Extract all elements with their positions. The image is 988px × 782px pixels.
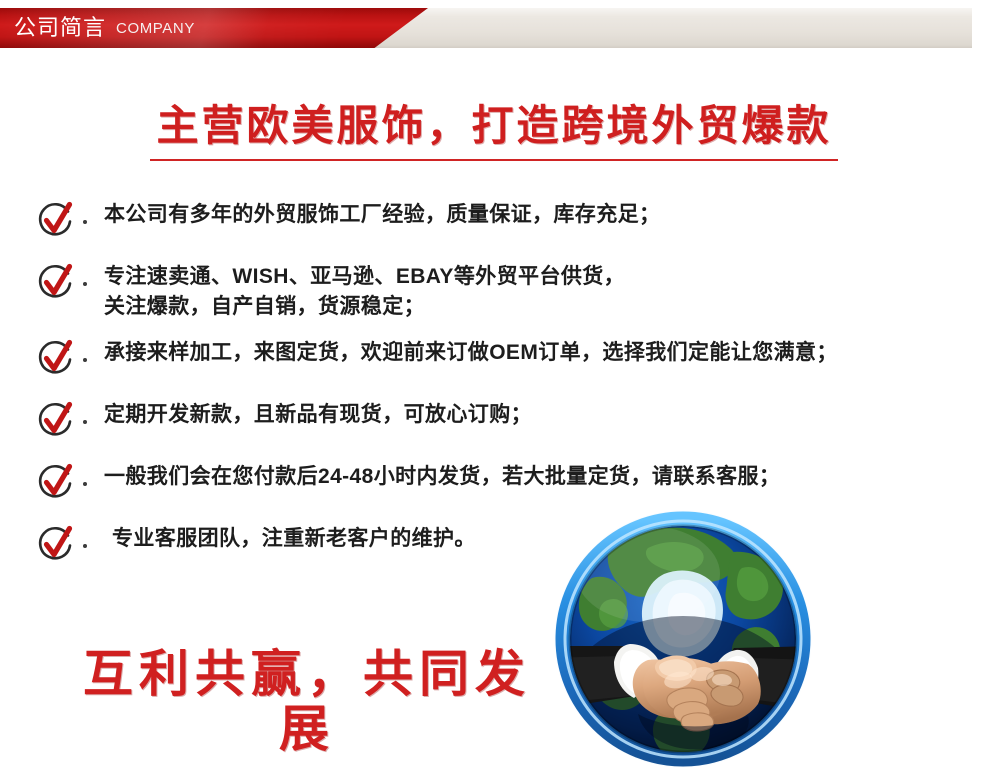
check-circle-icon [34,398,78,442]
headline-text: 主营欧美服饰，打造跨境外贸爆款 [150,102,837,161]
list-item: 承接来样加工，来图定货，欢迎前来订做OEM订单，选择我们定能让您满意； [34,334,954,380]
header-title-chinese: 公司简言 [14,17,106,39]
check-circle-icon [34,260,78,304]
bullet-dot [83,544,87,548]
bullet-dot [83,420,87,424]
list-item-text: 一般我们会在您付款后24-48小时内发货，若大批量定货，请联系客服； [104,458,954,492]
check-circle-icon [34,460,78,504]
bullet-dot [83,358,87,362]
globe-handshake-image [552,508,814,770]
header-title-english: COMPANY [116,21,195,36]
list-item: 定期开发新款，且新品有现货，可放心订购； [34,396,954,442]
header-banner: 公司简言 COMPANY [0,8,988,48]
list-item-text: 专注速卖通、WISH、亚马逊、EBAY等外贸平台供货， 关注爆款，自产自销，货源… [104,258,954,322]
list-item-text-line2: 关注爆款，自产自销，货源稳定； [104,292,954,322]
header-title-group: 公司简言 COMPANY [14,8,195,48]
bottom-slogan-text: 互利共赢，共同发展 [83,644,531,758]
feature-bullet-list: 本公司有多年的外贸服饰工厂经验，质量保证，库存充足； 专注速卖通、WISH、亚马… [34,196,954,580]
bottom-slogan: 互利共赢，共同发展 [62,646,552,756]
list-item: 专注速卖通、WISH、亚马逊、EBAY等外贸平台供货， 关注爆款，自产自销，货源… [34,258,954,322]
list-item: 本公司有多年的外贸服饰工厂经验，质量保证，库存充足； [34,196,954,242]
list-item-text-line1: 专注速卖通、WISH、亚马逊、EBAY等外贸平台供货， [104,265,625,288]
list-item: 一般我们会在您付款后24-48小时内发货，若大批量定货，请联系客服； [34,458,954,504]
list-item-text: 专业客服团队，注重新老客户的维护。 [104,520,954,554]
headline: 主营欧美服饰，打造跨境外贸爆款 [0,102,988,161]
bullet-dot [83,220,87,224]
bullet-dot [83,482,87,486]
check-circle-icon [34,336,78,380]
list-item: 专业客服团队，注重新老客户的维护。 [34,520,954,566]
list-item-text: 承接来样加工，来图定货，欢迎前来订做OEM订单，选择我们定能让您满意； [104,334,954,368]
bullet-dot [83,282,87,286]
check-circle-icon [34,198,78,242]
list-item-text: 本公司有多年的外贸服饰工厂经验，质量保证，库存充足； [104,196,954,230]
check-circle-icon [34,522,78,566]
list-item-text: 定期开发新款，且新品有现货，可放心订购； [104,396,954,430]
